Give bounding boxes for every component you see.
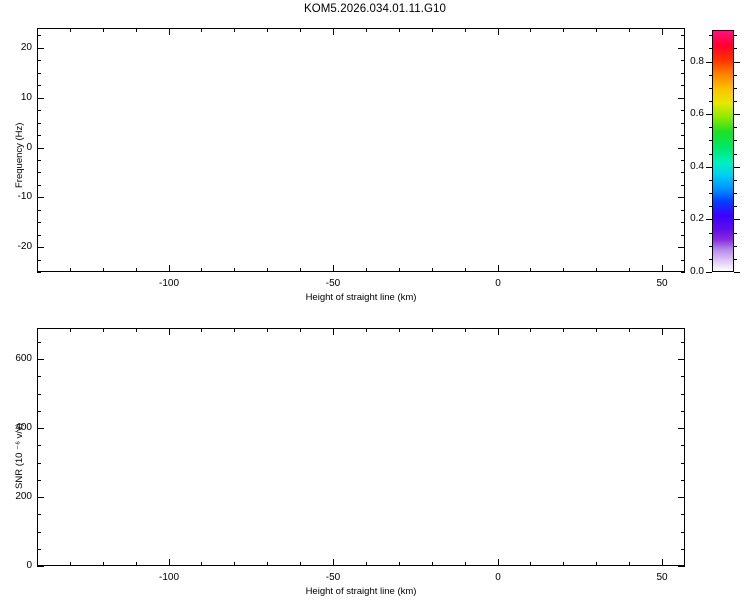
axis-tick	[333, 328, 334, 335]
axis-tick	[234, 328, 235, 332]
axis-tick	[734, 114, 740, 115]
x-tick-label: 0	[468, 278, 528, 289]
axis-tick	[37, 566, 44, 567]
axis-tick	[399, 268, 400, 272]
axis-tick	[706, 114, 712, 115]
x-tick-label: -50	[303, 572, 363, 583]
axis-tick	[70, 328, 71, 332]
axis-tick	[498, 559, 499, 566]
axis-tick	[681, 73, 685, 74]
axis-tick	[136, 328, 137, 332]
snr-xlabel: Height of straight line (km)	[37, 586, 685, 597]
colorbar-tick-label: 0.2	[660, 213, 704, 224]
axis-tick	[681, 463, 685, 464]
axis-tick	[734, 193, 737, 194]
axis-tick	[709, 127, 712, 128]
axis-tick	[37, 359, 44, 360]
axis-tick	[709, 246, 712, 247]
axis-tick	[300, 328, 301, 332]
axis-tick	[681, 376, 685, 377]
y-tick-label: 0	[0, 560, 32, 571]
snr-ylabel: SNR (10 ⁻⁶ v/v)	[14, 423, 25, 489]
axis-tick	[37, 160, 41, 161]
axis-tick	[681, 342, 685, 343]
axis-tick	[596, 268, 597, 272]
axis-tick	[681, 35, 685, 36]
axis-tick	[37, 428, 44, 429]
axis-tick	[678, 566, 685, 567]
axis-tick	[37, 411, 41, 412]
axis-tick	[465, 268, 466, 272]
axis-tick	[678, 98, 685, 99]
axis-tick	[37, 48, 44, 49]
axis-tick	[37, 272, 41, 273]
axis-tick	[37, 497, 44, 498]
axis-tick	[103, 328, 104, 332]
snr-axes-frame	[37, 328, 685, 566]
axis-tick	[678, 197, 685, 198]
axis-tick	[169, 265, 170, 272]
axis-tick	[681, 532, 685, 533]
figure-title: KOM5.2026.034.01.11.G10	[0, 3, 750, 15]
axis-tick	[681, 394, 685, 395]
axis-tick	[37, 197, 44, 198]
axis-tick	[706, 167, 712, 168]
axis-tick	[37, 110, 41, 111]
axis-tick	[37, 376, 41, 377]
axis-tick	[37, 260, 41, 261]
axis-tick	[37, 210, 41, 211]
axis-tick	[234, 268, 235, 272]
axis-tick	[37, 135, 41, 136]
axis-tick	[136, 268, 137, 272]
axis-tick	[37, 328, 38, 332]
axis-tick	[706, 272, 712, 273]
axis-tick	[333, 559, 334, 566]
axis-tick	[734, 154, 737, 155]
y-tick-label: -10	[0, 191, 32, 202]
axis-tick	[37, 73, 41, 74]
axis-tick	[267, 268, 268, 272]
axis-tick	[530, 28, 531, 32]
x-tick-label: 50	[632, 278, 692, 289]
axis-tick	[709, 193, 712, 194]
axis-tick	[734, 246, 737, 247]
axis-tick	[734, 35, 737, 36]
axis-tick	[432, 268, 433, 272]
axis-tick	[201, 562, 202, 566]
axis-tick	[629, 328, 630, 332]
x-tick-label: 0	[468, 572, 528, 583]
x-tick-label: -50	[303, 278, 363, 289]
axis-tick	[530, 562, 531, 566]
axis-tick	[169, 28, 170, 35]
axis-tick	[399, 562, 400, 566]
axis-tick	[136, 562, 137, 566]
axis-tick	[681, 235, 685, 236]
axis-tick	[709, 48, 712, 49]
colorbar-tick-label: 0.6	[660, 108, 704, 119]
spectrogram-axes-frame	[37, 28, 685, 272]
colorbar-tick-label: 0.0	[660, 266, 704, 277]
axis-tick	[678, 497, 685, 498]
axis-tick	[333, 265, 334, 272]
axis-tick	[681, 85, 685, 86]
axis-tick	[267, 562, 268, 566]
axis-tick	[300, 268, 301, 272]
colorbar-tick-label: 0.8	[660, 56, 704, 67]
axis-tick	[498, 328, 499, 335]
axis-tick	[709, 180, 712, 181]
axis-tick	[596, 28, 597, 32]
axis-tick	[678, 247, 685, 248]
axis-tick	[432, 328, 433, 332]
axis-tick	[734, 140, 737, 141]
axis-tick	[465, 328, 466, 332]
axis-tick	[498, 28, 499, 35]
axis-tick	[662, 28, 663, 35]
axis-tick	[169, 328, 170, 335]
axis-tick	[432, 28, 433, 32]
y-tick-label: 200	[0, 491, 32, 502]
axis-tick	[234, 28, 235, 32]
axis-tick	[709, 233, 712, 234]
axis-tick	[681, 411, 685, 412]
axis-tick	[37, 532, 41, 533]
axis-tick	[681, 123, 685, 124]
axis-tick	[366, 562, 367, 566]
axis-tick	[37, 148, 44, 149]
axis-tick	[709, 154, 712, 155]
axis-tick	[37, 394, 41, 395]
axis-tick	[103, 268, 104, 272]
axis-tick	[681, 480, 685, 481]
y-tick-label: 10	[0, 92, 32, 103]
axis-tick	[706, 219, 712, 220]
axis-tick	[300, 562, 301, 566]
axis-tick	[709, 75, 712, 76]
axis-tick	[709, 88, 712, 89]
axis-tick	[37, 172, 41, 173]
axis-tick	[37, 480, 41, 481]
axis-tick	[734, 127, 737, 128]
axis-tick	[70, 28, 71, 32]
axis-tick	[103, 28, 104, 32]
axis-tick	[366, 28, 367, 32]
axis-tick	[267, 28, 268, 32]
axis-tick	[678, 48, 685, 49]
axis-tick	[681, 514, 685, 515]
axis-tick	[530, 328, 531, 332]
axis-tick	[563, 28, 564, 32]
colorbar-tick-label: 0.4	[660, 161, 704, 172]
axis-tick	[333, 28, 334, 35]
y-tick-label: 600	[0, 353, 32, 364]
axis-tick	[734, 180, 737, 181]
axis-tick	[37, 85, 41, 86]
axis-tick	[37, 185, 41, 186]
axis-tick	[37, 342, 41, 343]
axis-tick	[563, 328, 564, 332]
axis-tick	[681, 549, 685, 550]
y-tick-label: 20	[0, 42, 32, 53]
colorbar-gradient	[712, 30, 734, 272]
axis-tick	[37, 549, 41, 550]
axis-tick	[366, 268, 367, 272]
axis-tick	[709, 140, 712, 141]
axis-tick	[201, 268, 202, 272]
axis-tick	[681, 185, 685, 186]
axis-tick	[563, 268, 564, 272]
figure-root: KOM5.2026.034.01.11.G10 -100-50050-20-10…	[0, 0, 750, 600]
x-tick-label: -100	[139, 278, 199, 289]
axis-tick	[678, 148, 685, 149]
axis-tick	[201, 328, 202, 332]
axis-tick	[709, 259, 712, 260]
axis-tick	[734, 75, 737, 76]
spectrogram-xlabel: Height of straight line (km)	[37, 292, 685, 303]
axis-tick	[681, 172, 685, 173]
axis-tick	[734, 272, 740, 273]
axis-tick	[37, 35, 41, 36]
axis-tick	[37, 60, 41, 61]
axis-tick	[563, 562, 564, 566]
axis-tick	[662, 559, 663, 566]
axis-tick	[681, 445, 685, 446]
axis-tick	[37, 28, 38, 32]
axis-tick	[709, 206, 712, 207]
axis-tick	[734, 101, 737, 102]
axis-tick	[37, 514, 41, 515]
axis-tick	[530, 268, 531, 272]
axis-tick	[432, 562, 433, 566]
axis-tick	[267, 328, 268, 332]
axis-tick	[70, 268, 71, 272]
axis-tick	[498, 265, 499, 272]
axis-tick	[37, 222, 41, 223]
axis-tick	[37, 235, 41, 236]
axis-tick	[465, 28, 466, 32]
axis-tick	[734, 62, 740, 63]
x-tick-label: -100	[139, 572, 199, 583]
axis-tick	[734, 88, 737, 89]
axis-tick	[629, 268, 630, 272]
axis-tick	[734, 48, 737, 49]
spectrogram-ylabel: Frequency (Hz)	[14, 123, 25, 188]
axis-tick	[169, 559, 170, 566]
axis-tick	[629, 562, 630, 566]
axis-tick	[234, 562, 235, 566]
axis-tick	[399, 328, 400, 332]
axis-tick	[678, 428, 685, 429]
axis-tick	[465, 562, 466, 566]
axis-tick	[300, 28, 301, 32]
axis-tick	[399, 28, 400, 32]
axis-tick	[734, 219, 740, 220]
axis-tick	[37, 123, 41, 124]
axis-tick	[681, 210, 685, 211]
axis-tick	[37, 445, 41, 446]
axis-tick	[37, 247, 44, 248]
axis-tick	[136, 28, 137, 32]
axis-tick	[201, 28, 202, 32]
axis-tick	[596, 562, 597, 566]
axis-tick	[709, 35, 712, 36]
axis-tick	[734, 206, 737, 207]
axis-tick	[103, 562, 104, 566]
axis-tick	[678, 359, 685, 360]
axis-tick	[37, 98, 44, 99]
y-tick-label: -20	[0, 241, 32, 252]
axis-tick	[706, 62, 712, 63]
axis-tick	[366, 328, 367, 332]
axis-tick	[709, 101, 712, 102]
axis-tick	[662, 328, 663, 335]
axis-tick	[629, 28, 630, 32]
axis-tick	[37, 463, 41, 464]
axis-tick	[681, 260, 685, 261]
axis-tick	[70, 562, 71, 566]
axis-tick	[734, 259, 737, 260]
axis-tick	[681, 135, 685, 136]
axis-tick	[734, 233, 737, 234]
axis-tick	[734, 167, 740, 168]
x-tick-label: 50	[632, 572, 692, 583]
axis-tick	[596, 328, 597, 332]
